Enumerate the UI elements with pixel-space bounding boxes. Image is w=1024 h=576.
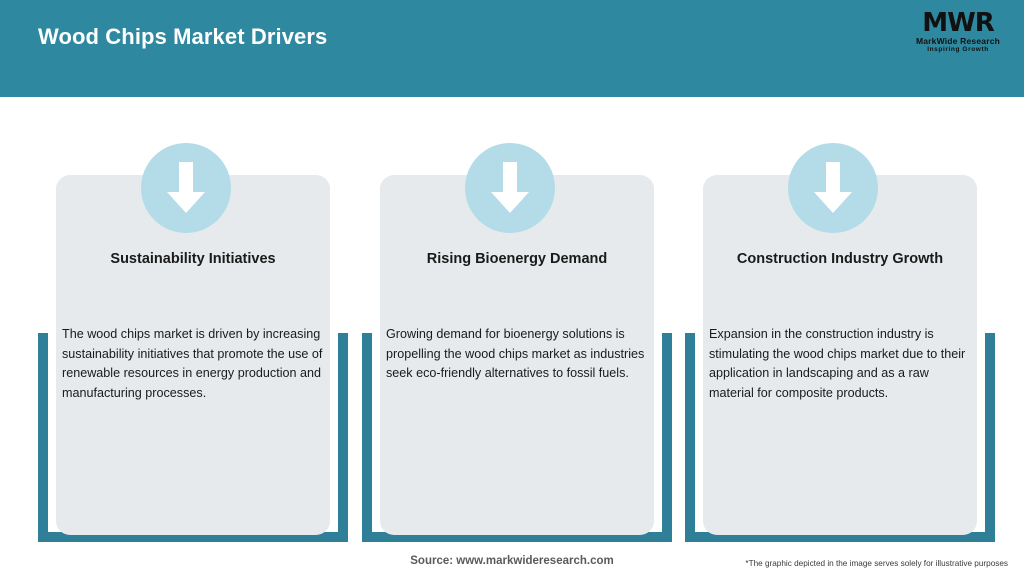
arrow-down-icon: [465, 143, 555, 233]
card-heading: Sustainability Initiatives: [56, 251, 330, 267]
page-title: Wood Chips Market Drivers: [38, 24, 327, 50]
logo-company-name: MarkWide Research: [906, 36, 1010, 46]
footer-disclaimer-label: *The graphic depicted in the image serve…: [745, 559, 1008, 568]
card-heading: Construction Industry Growth: [703, 251, 977, 267]
card-body-text: Expansion in the construction industry i…: [709, 325, 971, 403]
logo-tagline: Inspiring Growth: [906, 46, 1010, 54]
arrow-down-icon: [788, 143, 878, 233]
logo-mark-icon: MWR: [906, 10, 1010, 36]
driver-card: Sustainability Initiatives The wood chip…: [34, 143, 352, 543]
arrow-down-icon: [141, 143, 231, 233]
card-body-text: The wood chips market is driven by incre…: [62, 325, 324, 403]
driver-card: Rising Bioenergy Demand Growing demand f…: [358, 143, 676, 543]
brand-logo: MWR MarkWide Research Inspiring Growth: [906, 10, 1010, 58]
card-body-text: Growing demand for bioenergy solutions i…: [386, 325, 648, 384]
card-heading: Rising Bioenergy Demand: [380, 251, 654, 267]
driver-card: Construction Industry Growth Expansion i…: [681, 143, 999, 543]
